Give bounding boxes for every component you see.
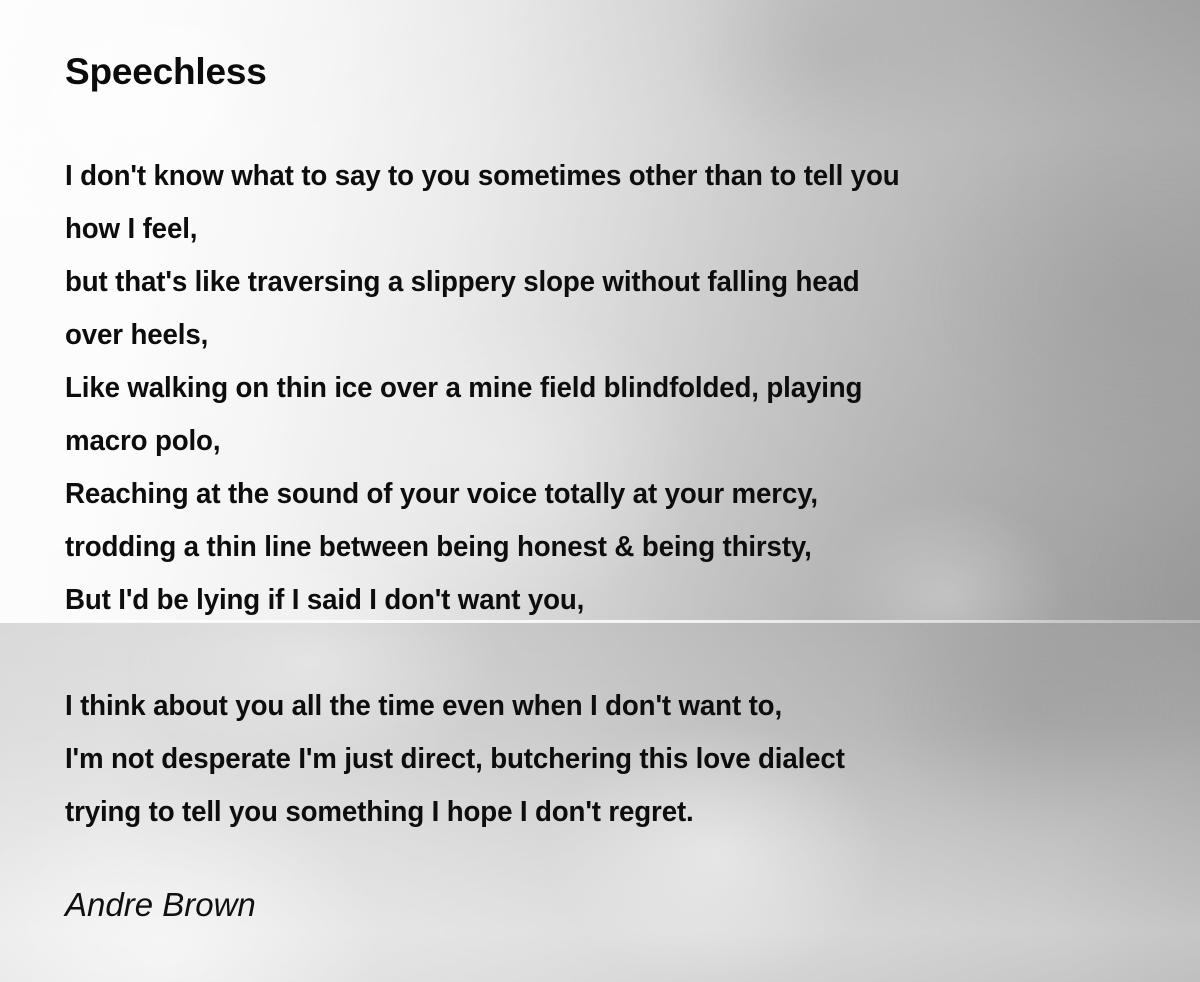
poem-line: over heels, [65, 309, 1077, 362]
poem-stanza-1: I don't know what to say to you sometime… [65, 150, 1125, 627]
poem-line: Like walking on thin ice over a mine fie… [65, 362, 1077, 415]
stanza-separator [65, 627, 1125, 680]
poem-line: trodding a thin line between being hones… [65, 521, 1077, 574]
poem-line: Reaching at the sound of your voice tota… [65, 468, 1077, 521]
poem-line: but that's like traversing a slippery sl… [65, 256, 1077, 309]
poem-image-card: Speechless I don't know what to say to y… [0, 0, 1200, 982]
poem-stanza-2: I think about you all the time even when… [65, 680, 1125, 839]
poem-line: trying to tell you something I hope I do… [65, 786, 1077, 839]
poem-text-body: I don't know what to say to you sometime… [65, 150, 1125, 839]
poem-content: Speechless I don't know what to say to y… [0, 0, 1200, 982]
poem-line: macro polo, [65, 415, 1077, 468]
poem-title: Speechless [65, 49, 267, 95]
poem-line: how I feel, [65, 203, 1077, 256]
poem-line: I think about you all the time even when… [65, 680, 1077, 733]
poem-line: I don't know what to say to you sometime… [65, 150, 1077, 203]
poem-line: I'm not desperate I'm just direct, butch… [65, 733, 1077, 786]
poem-author-byline: Andre Brown [65, 884, 256, 926]
poem-line: But I'd be lying if I said I don't want … [65, 574, 1077, 627]
